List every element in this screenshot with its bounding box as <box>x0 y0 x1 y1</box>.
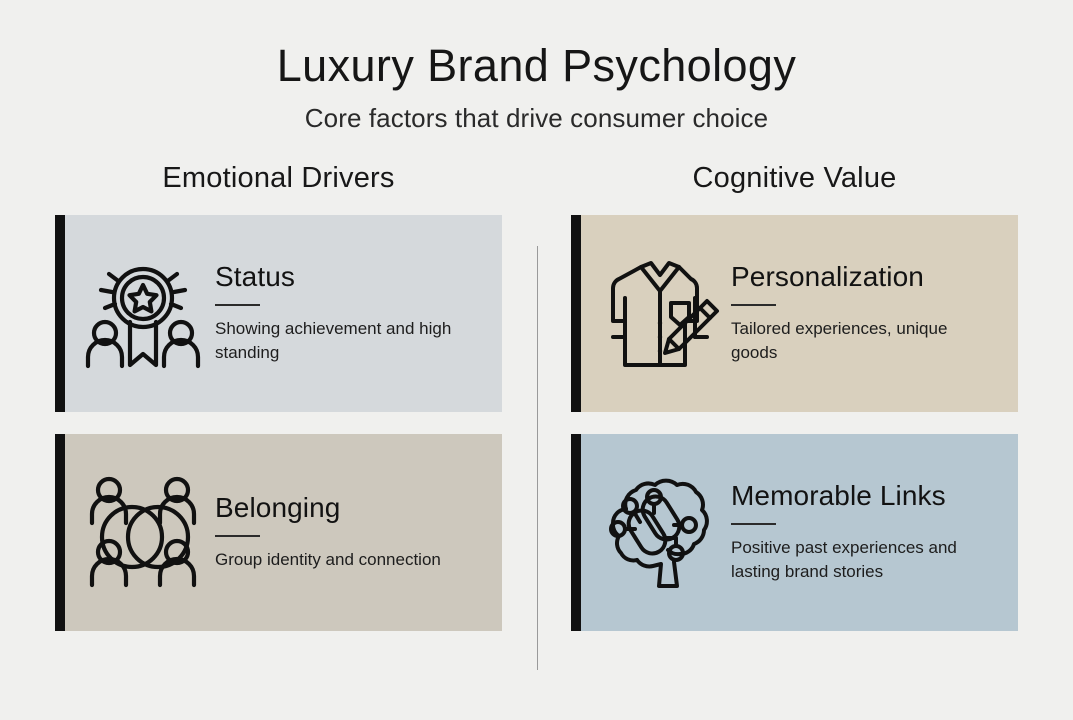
card-personalization[interactable]: Personalization Tailored experiences, un… <box>571 215 1018 412</box>
card-status-description: Showing achievement and high standing <box>215 317 460 365</box>
shirt-pencil-icon <box>581 253 731 373</box>
column-heading-cognitive-value: Cognitive Value <box>571 162 1018 195</box>
card-personalization-rule <box>731 304 776 306</box>
column-cognitive-value: Cognitive Value <box>571 162 1018 653</box>
card-memorable-links-description: Positive past experiences and lasting br… <box>731 536 976 584</box>
column-emotional-drivers: Emotional Drivers <box>55 162 502 653</box>
column-divider <box>537 246 538 670</box>
card-memorable-links-title: Memorable Links <box>731 480 1004 511</box>
card-memorable-links[interactable]: Memorable Links Positive past experience… <box>571 434 1018 631</box>
card-belonging[interactable]: Belonging Group identity and connection <box>55 434 502 631</box>
card-memorable-links-body: Memorable Links Positive past experience… <box>731 480 1018 585</box>
brain-chain-link-icon <box>581 473 731 591</box>
card-belonging-description: Group identity and connection <box>215 548 460 572</box>
page-header: Luxury Brand Psychology Core factors tha… <box>0 0 1073 134</box>
card-personalization-body: Personalization Tailored experiences, un… <box>731 261 1018 366</box>
card-belonging-body: Belonging Group identity and connection <box>215 492 502 572</box>
page-title: Luxury Brand Psychology <box>0 42 1073 91</box>
people-interlocking-rings-icon <box>65 473 215 591</box>
card-status-title: Status <box>215 261 488 292</box>
card-belonging-rule <box>215 535 260 537</box>
card-belonging-title: Belonging <box>215 492 488 523</box>
page-subtitle: Core factors that drive consumer choice <box>0 103 1073 134</box>
card-status-body: Status Showing achievement and high stan… <box>215 261 502 366</box>
card-memorable-links-rule <box>731 523 776 525</box>
column-heading-emotional-drivers: Emotional Drivers <box>55 162 502 195</box>
award-medal-people-icon <box>65 254 215 372</box>
card-status[interactable]: Status Showing achievement and high stan… <box>55 215 502 412</box>
card-personalization-title: Personalization <box>731 261 1004 292</box>
card-personalization-description: Tailored experiences, unique goods <box>731 317 976 365</box>
card-status-rule <box>215 304 260 306</box>
